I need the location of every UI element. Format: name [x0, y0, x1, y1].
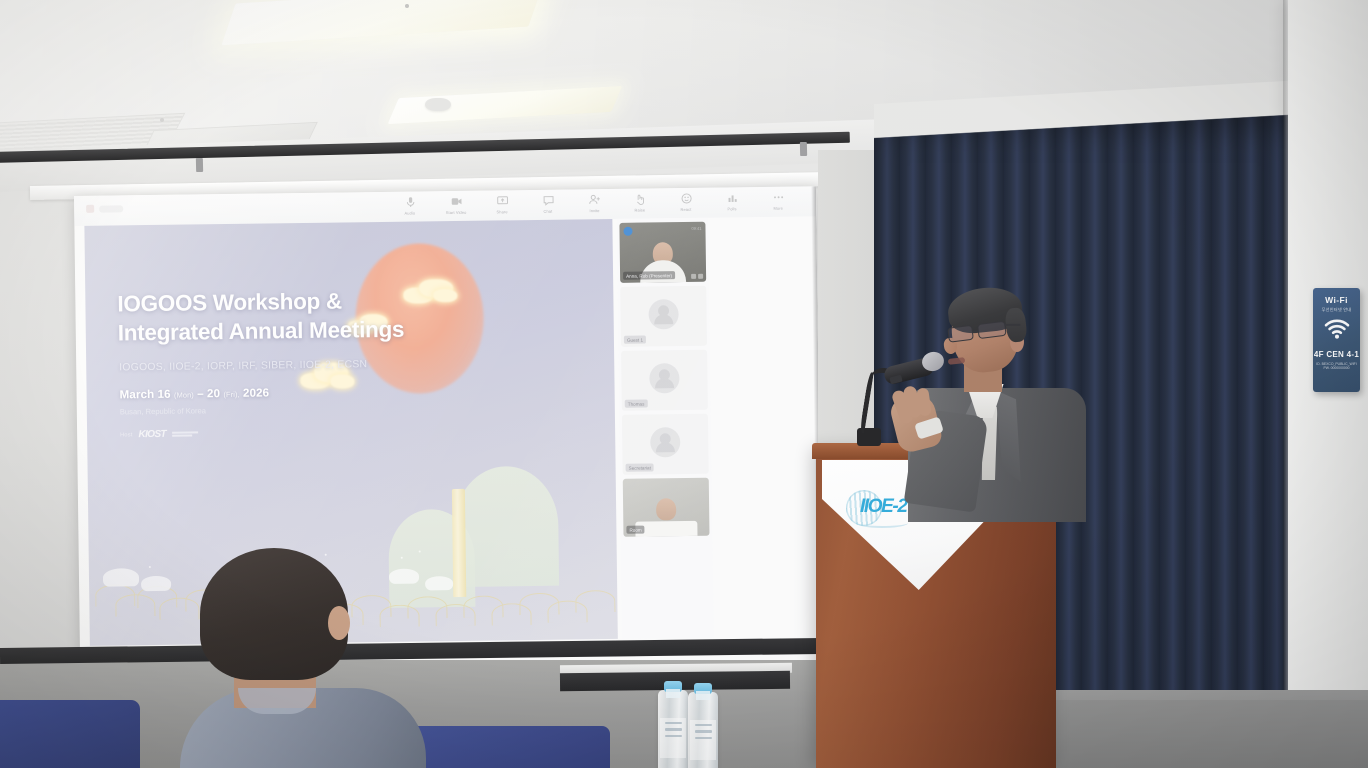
bottle-label [660, 718, 686, 758]
rail-bracket [196, 158, 203, 172]
toolbar-item-audio[interactable]: Audio [394, 195, 426, 215]
participant-tile[interactable]: Guest 1 [620, 286, 707, 347]
wifi-sign-subtitle: 무선인터넷 안내 [1322, 307, 1352, 313]
toolbar-item-react[interactable]: React [670, 192, 702, 212]
slide-host-label: Host [120, 432, 132, 438]
avatar [650, 427, 680, 457]
add-person-icon [588, 193, 601, 206]
app-chrome-left [86, 204, 123, 212]
toolbar-item-label: Raise [635, 208, 646, 213]
wifi-room-code: 4F CEN 4-1 [1314, 350, 1359, 359]
camera-icon [450, 195, 463, 208]
wifi-signage: Wi-Fi 무선인터넷 안내 4F CEN 4-1 ID. BEXCO_PUBL… [1313, 288, 1360, 392]
slide-title-line-1: IOGOOS Workshop & [117, 286, 404, 319]
avatar [649, 363, 679, 393]
audience-hair [200, 548, 348, 680]
toolbar-item-label: Audio [405, 211, 416, 216]
cloud-illustration [403, 279, 459, 306]
participant-tile[interactable]: Room [623, 478, 710, 537]
wifi-note-line-2: PW. 0000000000 [1320, 366, 1352, 371]
conference-room-photo: AudioStart VideoShareChatInviteRaiseReac… [0, 0, 1368, 768]
participant-name: Room [626, 526, 644, 534]
toolbar-item-invite[interactable]: Invite [578, 193, 610, 213]
participant-name: Thomas [625, 400, 648, 408]
avatar [648, 299, 678, 329]
toolbar-item-chat[interactable]: Chat [532, 194, 564, 214]
bottle-label [690, 720, 716, 760]
participant-tile[interactable]: 09:41Anna, Rob (Presenter) [619, 222, 706, 283]
participant-video-desk [635, 521, 697, 537]
slide-date-start: March 16 [120, 388, 171, 402]
toolbar-item-label: React [681, 207, 692, 212]
poll-icon [725, 191, 738, 204]
bottle-neck [696, 691, 710, 700]
participant-video-head [656, 498, 676, 520]
wifi-icon [1324, 319, 1350, 344]
tile-timestamp: 09:41 [691, 226, 701, 231]
participant-name: Secretariat [626, 463, 654, 471]
water-bottle [688, 692, 718, 768]
kiost-logo: KIOST [138, 429, 166, 440]
toolbar-item-label: More [773, 206, 783, 211]
record-indicator-icon [86, 205, 94, 213]
participant-tile[interactable]: Thomas [621, 350, 708, 411]
toolbar-item-more[interactable]: More [762, 191, 794, 211]
audience-person [186, 548, 406, 768]
bottle-neck [666, 689, 680, 698]
rail-bracket [800, 142, 807, 156]
emoji-icon [680, 192, 693, 205]
wifi-sign-title: Wi-Fi [1325, 295, 1348, 305]
chat-icon [542, 194, 555, 207]
participant-rail[interactable]: 09:41Anna, Rob (Presenter)Guest 1ThomasS… [616, 218, 713, 639]
tile-controls[interactable] [691, 274, 703, 279]
slide-date-year: 2026 [243, 386, 269, 399]
slide-title-line-2: Integrated Annual Meetings [118, 315, 405, 348]
share-screen-icon [496, 194, 509, 207]
toolbar-item-label: Share [497, 209, 508, 214]
slide-date-dow-start: (Mon) [174, 390, 194, 399]
slide-date-dow-end: (Fri), [223, 390, 239, 399]
app-chrome-pill [99, 205, 123, 212]
raise-hand-icon [634, 193, 647, 206]
microphone-icon [404, 196, 417, 209]
toolbar-item-raise[interactable]: Raise [624, 192, 656, 212]
participant-tile[interactable]: Secretariat [622, 414, 709, 475]
toolbar-item-label: Chat [544, 209, 553, 214]
slide-date-end: – 20 [197, 387, 220, 400]
tile-camera-icon[interactable] [698, 274, 703, 279]
kiost-logo-tagline [172, 432, 198, 437]
speaker-person [900, 292, 1090, 522]
slide-logo-row: Host KIOST [120, 428, 198, 440]
participant-name: Anna, Rob (Presenter) [623, 271, 675, 280]
slide-location: Busan, Republic of Korea [120, 406, 206, 416]
active-speaker-badge [623, 227, 632, 236]
toolbar-item-share[interactable]: Share [486, 194, 518, 214]
audience-ear [328, 606, 350, 640]
audience-chair [0, 700, 140, 768]
toolbar-item-start-video[interactable]: Start Video [440, 195, 472, 215]
tile-mic-icon[interactable] [691, 274, 696, 279]
slide-date: March 16 (Mon) – 20 (Fri), 2026 [120, 386, 270, 401]
participant-name: Guest 1 [624, 336, 646, 344]
toolbar-item-label: Invite [589, 208, 599, 213]
slide-title: IOGOOS Workshop & Integrated Annual Meet… [117, 286, 404, 348]
toolbar-item-label: Start Video [446, 210, 467, 215]
toolbar-item-label: Polls [728, 206, 737, 211]
toolbar-item-polls[interactable]: Polls [716, 191, 748, 211]
water-bottle [658, 690, 688, 768]
ellipsis-icon [771, 191, 784, 204]
meeting-toolbar[interactable]: AudioStart VideoShareChatInviteRaiseReac… [394, 188, 822, 216]
